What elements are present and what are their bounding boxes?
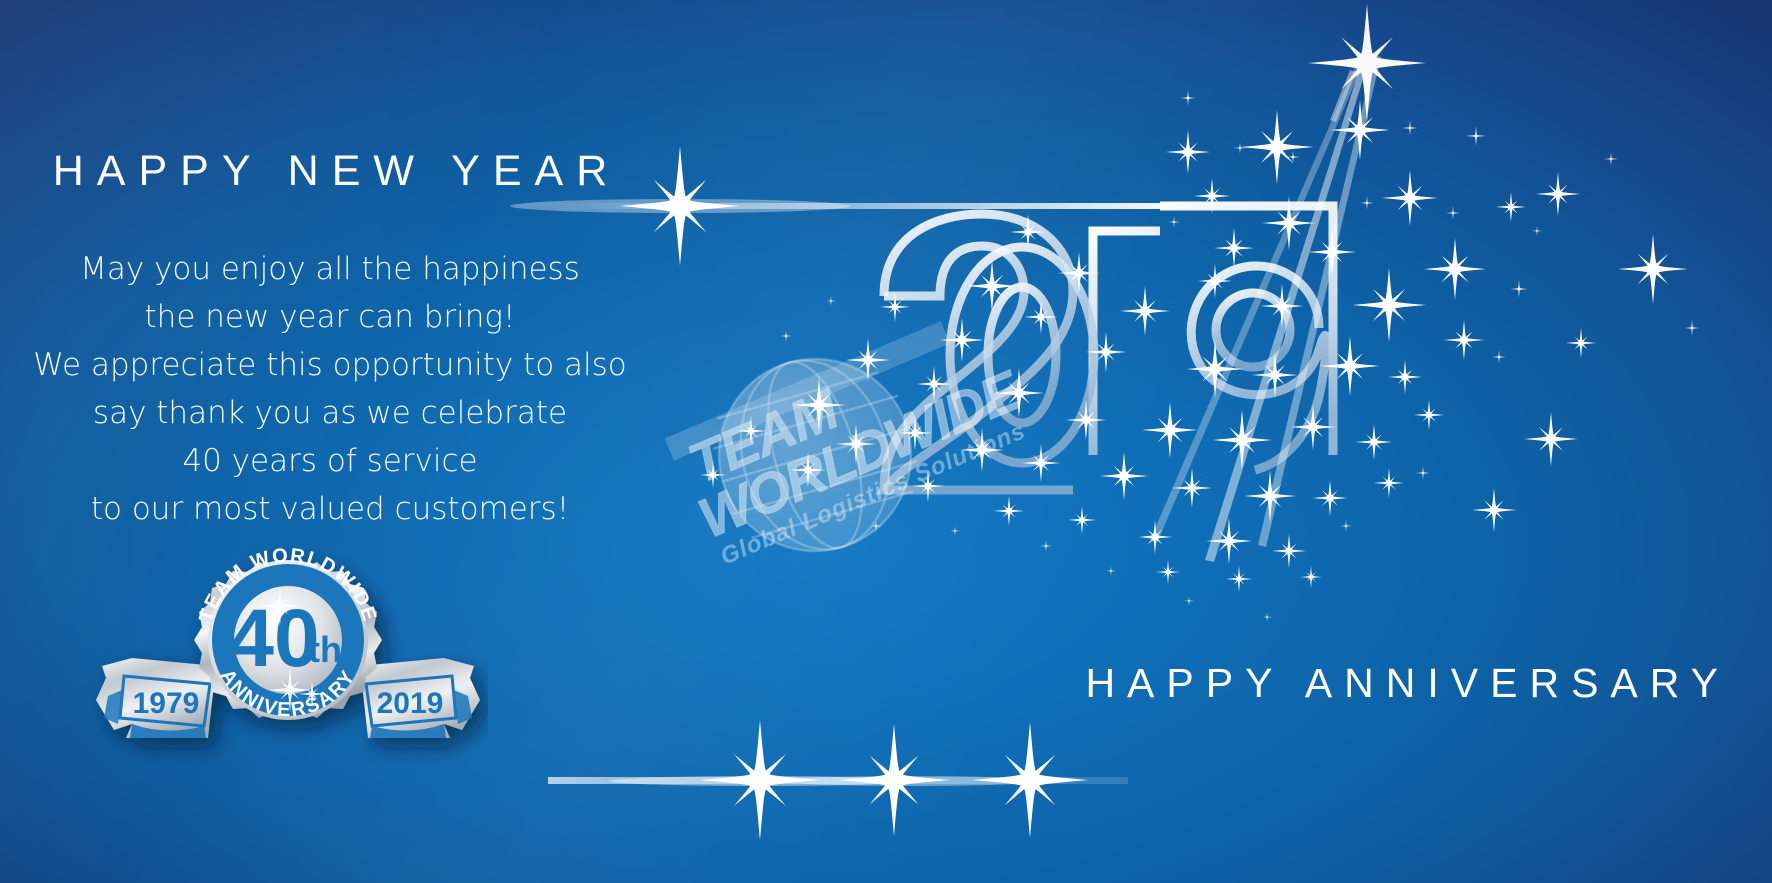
footer-title: HAPPY ANNIVERSARY: [1085, 660, 1730, 707]
message-column: HAPPY NEW YEAR May you enjoy all the hap…: [0, 150, 660, 533]
greeting-card: TEAM WORLDWIDE Global Logistics Solution…: [0, 0, 1772, 883]
message-line: to our most valued customers!: [0, 485, 660, 533]
message-body: May you enjoy all the happiness the new …: [0, 245, 660, 533]
message-line: the new year can bring!: [0, 293, 660, 341]
badge-number-suffix: th: [308, 629, 342, 670]
message-line: say thank you as we celebrate: [0, 389, 660, 437]
anniversary-badge: 1979 2019: [88, 548, 488, 778]
ribbon-left: 1979: [96, 658, 216, 738]
page-title: HAPPY NEW YEAR: [0, 150, 660, 193]
message-line: We appreciate this opportunity to also: [0, 341, 660, 389]
ribbon-right: 2019: [360, 658, 480, 738]
message-line: May you enjoy all the happiness: [0, 245, 660, 293]
ribbon-right-year: 2019: [377, 687, 444, 720]
ribbon-left-year: 1979: [133, 687, 200, 720]
badge-medallion: TEAM WORLDWIDE ANNIVERSARY 40 th: [194, 548, 382, 721]
badge-graphic: 1979 2019: [88, 548, 488, 778]
message-line: 40 years of service: [0, 437, 660, 485]
